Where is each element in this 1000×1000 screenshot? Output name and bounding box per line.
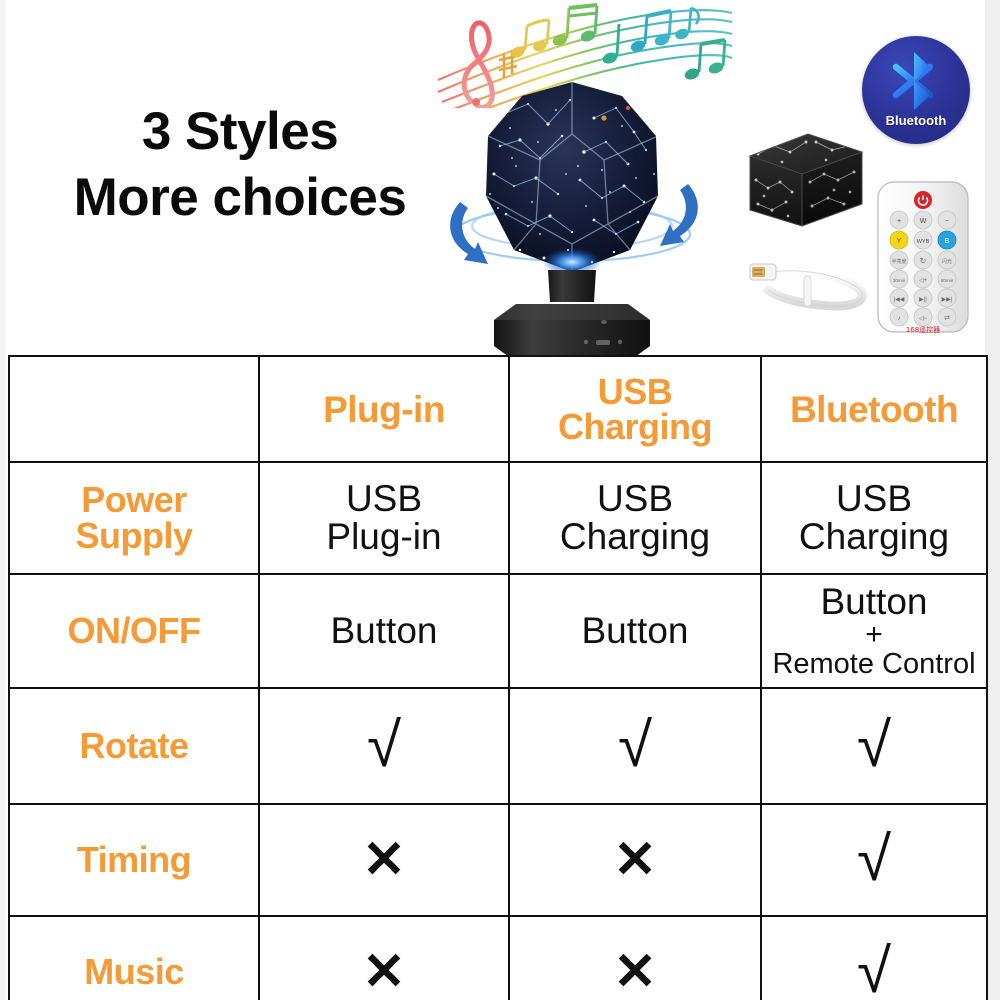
cell-timing-usb: ✕ bbox=[509, 804, 761, 916]
svg-text:Y: Y bbox=[897, 238, 902, 245]
cell-line2: + bbox=[766, 620, 982, 650]
header-bluetooth-label: Bluetooth bbox=[766, 391, 982, 428]
header-cell-usb-charging: USB Charging bbox=[509, 356, 761, 462]
cell-music-plugin: ✕ bbox=[259, 916, 509, 1000]
svg-text:WYB: WYB bbox=[917, 239, 930, 245]
svg-text:↻: ↻ bbox=[920, 257, 927, 266]
row-label-timing: Timing bbox=[9, 804, 259, 916]
svg-text:|◀◀: |◀◀ bbox=[894, 297, 905, 303]
table-row-timing: Timing ✕ ✕ √ bbox=[9, 804, 987, 916]
table-row-power-supply: Power Supply USB Plug-in USB Charging US… bbox=[9, 462, 987, 574]
constellation-gift-box-image bbox=[736, 128, 866, 238]
cell-line2: Plug-in bbox=[264, 518, 504, 556]
row-label-power-supply: Power Supply bbox=[9, 462, 259, 574]
svg-text:▶||: ▶|| bbox=[919, 297, 927, 303]
svg-text:60min: 60min bbox=[941, 278, 954, 283]
headline-line-1: 3 Styles bbox=[40, 104, 440, 160]
cell-timing-plugin: ✕ bbox=[259, 804, 509, 916]
svg-text:B: B bbox=[945, 238, 950, 245]
cross-icon: ✕ bbox=[613, 946, 657, 998]
bluetooth-badge-label: Bluetooth bbox=[862, 113, 970, 128]
check-icon: √ bbox=[618, 715, 652, 777]
row-label-rotate: Rotate bbox=[9, 688, 259, 804]
header-cell-bluetooth: Bluetooth bbox=[761, 356, 987, 462]
infographic-canvas: 3 Styles More choices bbox=[0, 0, 1000, 1000]
cell-line1: USB bbox=[264, 480, 504, 518]
row-label-line1: Timing bbox=[14, 842, 254, 878]
headline-line-2: More choices bbox=[40, 170, 440, 226]
headline: 3 Styles More choices bbox=[40, 104, 440, 226]
cell-line1: USB bbox=[766, 480, 982, 518]
cell-rotate-usb: √ bbox=[509, 688, 761, 804]
cell-line1: Button bbox=[514, 612, 756, 650]
page-edge-left bbox=[0, 0, 6, 1000]
svg-text:30min: 30min bbox=[893, 278, 906, 283]
svg-text:◁−: ◁− bbox=[919, 316, 928, 322]
cell-line1: Button bbox=[264, 612, 504, 650]
row-label-line2: Supply bbox=[14, 518, 254, 554]
cell-onoff-bluetooth: Button + Remote Control bbox=[761, 574, 987, 688]
usb-charging-cable-image bbox=[742, 246, 874, 322]
svg-text:▶▶|: ▶▶| bbox=[942, 297, 953, 303]
cell-music-usb: ✕ bbox=[509, 916, 761, 1000]
cross-icon: ✕ bbox=[362, 834, 406, 886]
svg-text:♪: ♪ bbox=[898, 316, 901, 322]
cell-onoff-plugin: Button bbox=[259, 574, 509, 688]
comparison-table: Plug-in USB Charging Bluetooth Power Sup… bbox=[8, 355, 988, 1000]
svg-text:◁+: ◁+ bbox=[919, 278, 928, 284]
table-header-row: Plug-in USB Charging Bluetooth bbox=[9, 356, 987, 462]
cell-timing-bluetooth: √ bbox=[761, 804, 987, 916]
bluetooth-icon bbox=[890, 50, 942, 112]
cell-power-usb: USB Charging bbox=[509, 462, 761, 574]
cell-line1: Button bbox=[766, 583, 982, 621]
svg-text:闪光: 闪光 bbox=[942, 258, 952, 265]
table-row-on-off: ON/OFF Button Button Button + Remote Con… bbox=[9, 574, 987, 688]
svg-text:+: + bbox=[897, 218, 901, 225]
cell-line1: USB bbox=[514, 480, 756, 518]
check-icon: √ bbox=[857, 941, 891, 1000]
check-icon: √ bbox=[857, 829, 891, 891]
row-label-line1: Power bbox=[14, 482, 254, 518]
star-projector-lamp-image bbox=[444, 74, 712, 359]
cross-icon: ✕ bbox=[362, 946, 406, 998]
row-label-music: Music bbox=[9, 916, 259, 1000]
remote-control-image: + W − Y WYB B 半亮度 ↻ 闪光 bbox=[872, 178, 976, 336]
cross-icon: ✕ bbox=[613, 834, 657, 886]
header-usb-line1: USB bbox=[514, 374, 756, 409]
header-usb-line2: Charging bbox=[514, 409, 756, 444]
cell-onoff-usb: Button bbox=[509, 574, 761, 688]
table-row-rotate: Rotate √ √ √ bbox=[9, 688, 987, 804]
svg-text:⇄: ⇄ bbox=[944, 315, 950, 322]
cell-rotate-plugin: √ bbox=[259, 688, 509, 804]
check-icon: √ bbox=[857, 715, 891, 777]
cell-rotate-bluetooth: √ bbox=[761, 688, 987, 804]
svg-text:W: W bbox=[920, 218, 927, 225]
header-cell-plugin: Plug-in bbox=[259, 356, 509, 462]
header-plugin-label: Plug-in bbox=[264, 391, 504, 428]
cell-line3: Remote Control bbox=[766, 650, 982, 679]
bluetooth-badge: Bluetooth bbox=[862, 36, 970, 144]
cell-power-plugin: USB Plug-in bbox=[259, 462, 509, 574]
cell-power-bluetooth: USB Charging bbox=[761, 462, 987, 574]
remote-model-label: 168遥控器 bbox=[906, 325, 940, 334]
svg-text:半亮度: 半亮度 bbox=[891, 258, 906, 265]
cell-line2: Charging bbox=[514, 518, 756, 556]
svg-text:−: − bbox=[945, 218, 949, 225]
cell-music-bluetooth: √ bbox=[761, 916, 987, 1000]
row-label-on-off: ON/OFF bbox=[9, 574, 259, 688]
row-label-line1: Music bbox=[14, 954, 254, 990]
rotation-arrow-right bbox=[660, 184, 698, 246]
rotation-arrow-left bbox=[450, 202, 488, 264]
row-label-line1: Rotate bbox=[14, 728, 254, 764]
table-row-music: Music ✕ ✕ √ bbox=[9, 916, 987, 1000]
cell-line2: Charging bbox=[766, 518, 982, 556]
header-cell-empty bbox=[9, 356, 259, 462]
check-icon: √ bbox=[367, 715, 401, 777]
row-label-line1: ON/OFF bbox=[14, 613, 254, 649]
